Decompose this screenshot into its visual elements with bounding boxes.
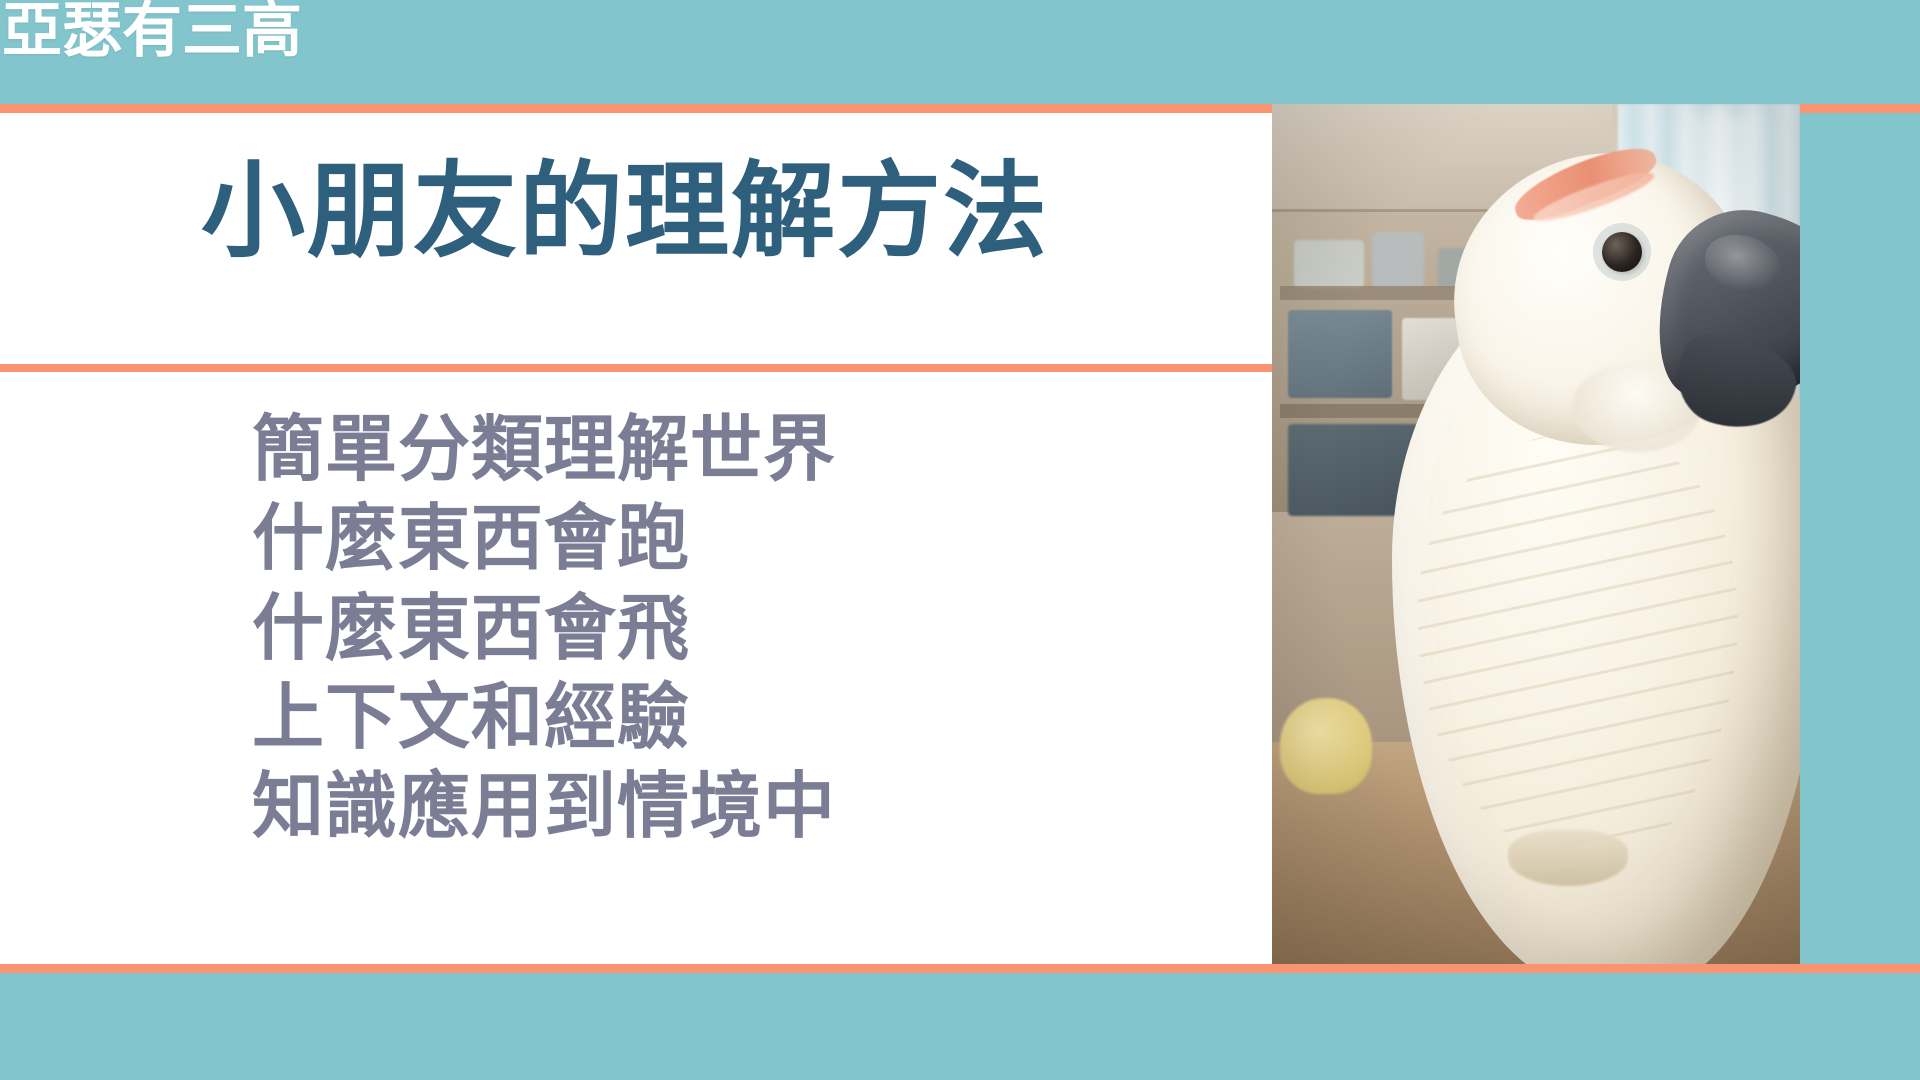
body-line: 什麼東西會飛 <box>252 584 1252 673</box>
photo-shelf-object <box>1372 232 1424 288</box>
title-divider-rule <box>0 364 1272 372</box>
bottom-accent-rule <box>0 964 1920 973</box>
photo-yellow-toy <box>1280 698 1372 794</box>
slide-title: 小朋友的理解方法 <box>0 155 1272 267</box>
cockatoo-photo <box>1272 104 1800 972</box>
body-line: 上下文和經驗 <box>252 673 1252 762</box>
body-text-block: 簡單分類理解世界 什麼東西會跑 什麼東西會飛 上下文和經驗 知識應用到情境中 <box>252 405 1252 851</box>
content-card: 小朋友的理解方法 簡單分類理解世界 什麼東西會跑 什麼東西會飛 上下文和經驗 知… <box>0 113 1272 964</box>
photo-shelf-object <box>1294 240 1364 288</box>
channel-watermark: 亞瑟有三高 <box>2 0 302 64</box>
photo-storage-box <box>1288 310 1392 398</box>
body-line: 什麼東西會跑 <box>252 494 1252 583</box>
title-zone: 小朋友的理解方法 <box>0 113 1272 361</box>
slide-canvas: 亞瑟有三高 小朋友的理解方法 簡單分類理解世界 什麼東西會跑 什麼東西會飛 上下… <box>0 0 1920 1080</box>
body-line: 知識應用到情境中 <box>252 762 1252 851</box>
cockatoo-eye <box>1602 232 1642 272</box>
cockatoo-foot <box>1508 830 1628 886</box>
body-line: 簡單分類理解世界 <box>252 405 1252 494</box>
